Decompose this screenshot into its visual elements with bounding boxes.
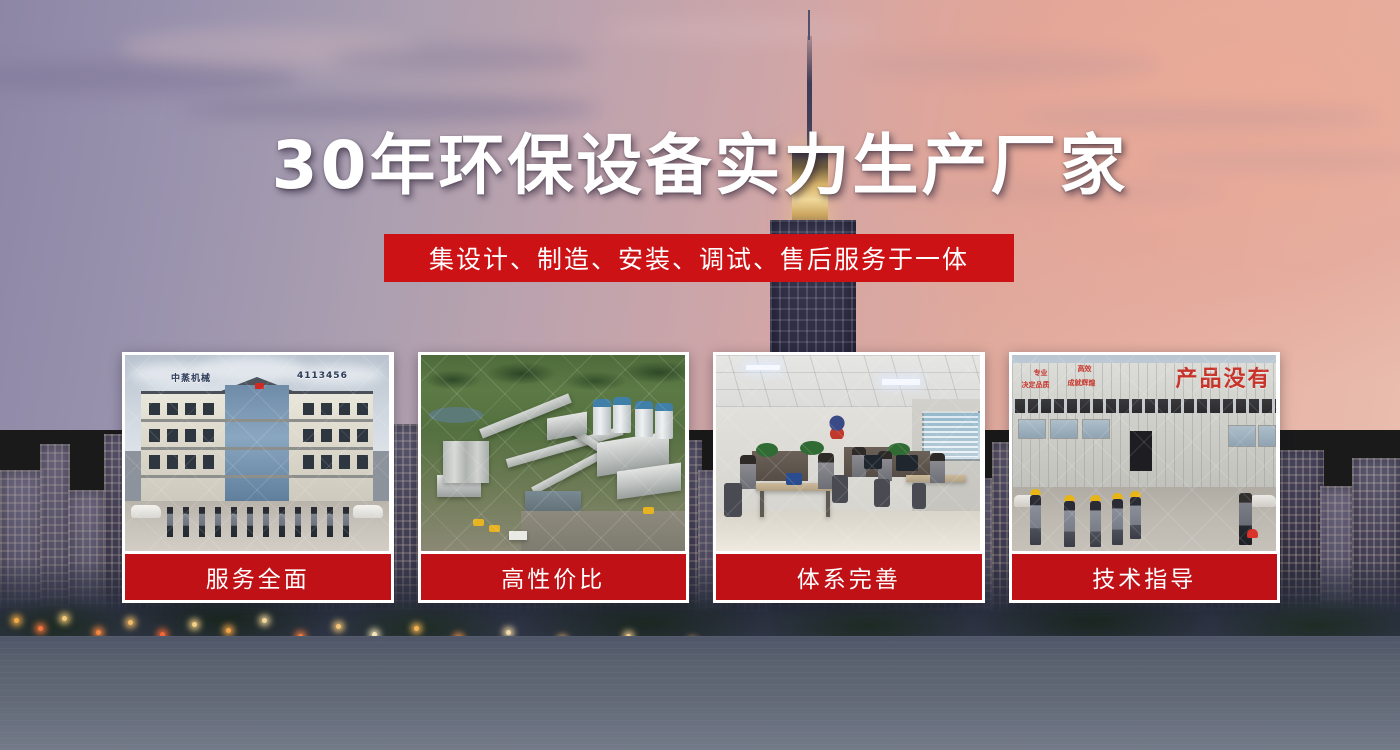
company-headquarters-photo: 中蒸机械 4113456 <box>125 355 389 551</box>
feature-card[interactable]: 产品没有 专业 决定品质 高效 成就辉煌 <box>1009 352 1281 603</box>
cloud <box>180 96 600 122</box>
river <box>0 636 1400 750</box>
card-caption: 技术指导 <box>1012 554 1278 600</box>
subtitle-text: 集设计、制造、安装、调试、售后服务于一体 <box>429 240 969 276</box>
cloud <box>860 50 1160 80</box>
workshop-training-photo: 产品没有 专业 决定品质 高效 成就辉煌 <box>1012 355 1276 551</box>
cloud <box>330 44 590 72</box>
wall-slogan-left: 专业 <box>1034 369 1048 378</box>
office-interior-photo <box>716 355 980 551</box>
feature-card-list: 中蒸机械 4113456 <box>122 352 1280 603</box>
production-plant-aerial-photo <box>421 355 685 551</box>
building-sign-text: 中蒸机械 <box>171 371 211 384</box>
wall-slogan-mid: 高效 <box>1078 365 1092 374</box>
wall-slogan-main: 产品没有 <box>1175 361 1271 393</box>
card-caption: 服务全面 <box>125 554 391 600</box>
wall-slogan-mid-sub: 成就辉煌 <box>1068 379 1096 388</box>
feature-card[interactable]: 中蒸机械 4113456 <box>122 352 394 603</box>
feature-card[interactable]: 体系完善 <box>713 352 985 603</box>
card-caption: 高性价比 <box>421 554 687 600</box>
page-title: 30年环保设备实力生产厂家 <box>0 131 1400 200</box>
cloud <box>600 18 880 44</box>
feature-card[interactable]: 高性价比 <box>418 352 690 603</box>
promo-banner: 30年环保设备实力生产厂家 集设计、制造、安装、调试、售后服务于一体 中蒸机械 … <box>0 0 1400 750</box>
wall-emblem-icon <box>824 415 850 439</box>
building-phone-text: 4113456 <box>297 371 348 381</box>
card-caption: 体系完善 <box>716 554 982 600</box>
subtitle-bar: 集设计、制造、安装、调试、售后服务于一体 <box>384 234 1014 282</box>
red-helmet-icon <box>1247 529 1258 538</box>
wall-slogan-left-sub: 决定品质 <box>1022 381 1050 390</box>
